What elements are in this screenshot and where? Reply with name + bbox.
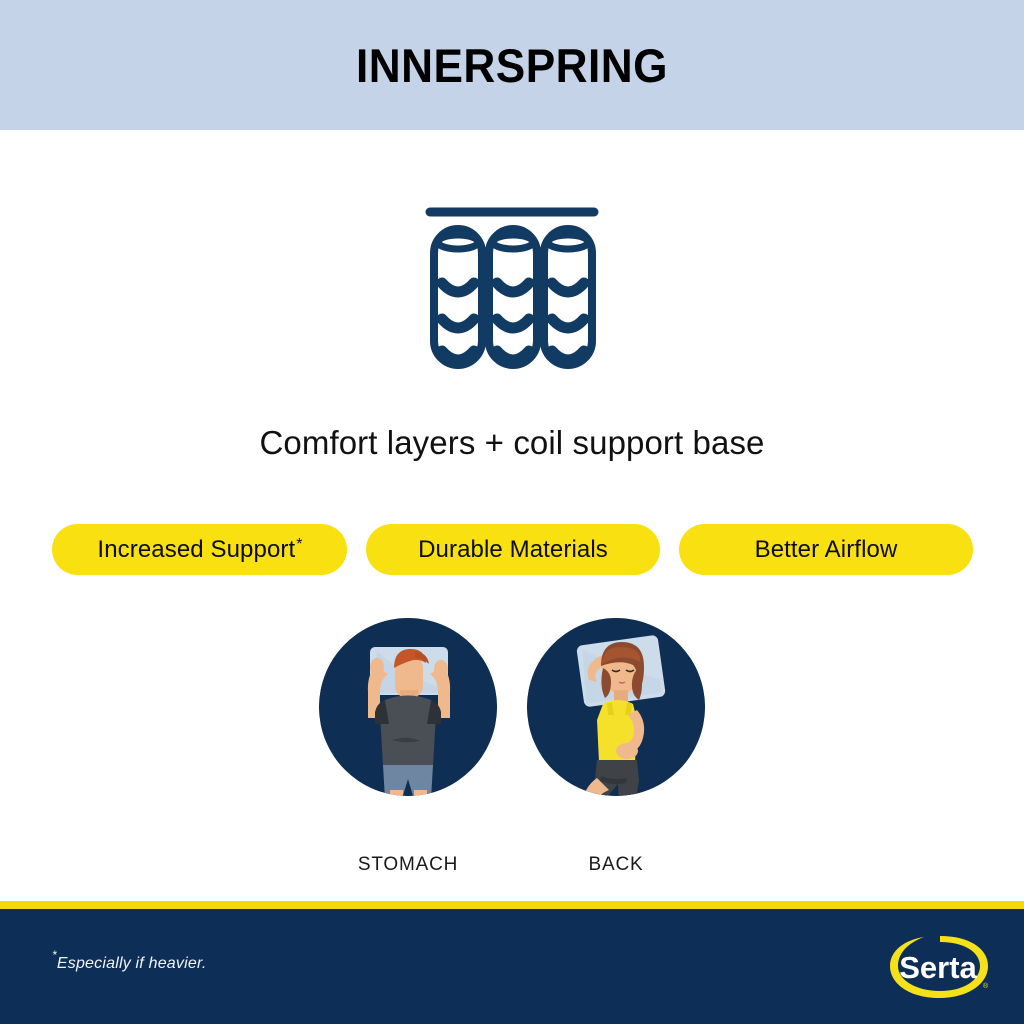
serta-wordmark: Serta <box>899 950 977 985</box>
stomach-sleeper-icon <box>319 618 497 796</box>
page-title: INNERSPRING <box>31 0 994 130</box>
sleep-position-label-back: BACK <box>527 854 705 876</box>
serta-logo[interactable]: Serta ® <box>884 928 996 1006</box>
sleep-position-row: STOMACH <box>297 618 727 878</box>
footnote-text: *Especially if heavier. <box>52 955 207 973</box>
footer-accent-stripe <box>0 901 1024 909</box>
benefit-pill-label: Increased Support <box>97 536 295 564</box>
benefit-pill-label: Durable Materials <box>418 536 608 564</box>
back-sleeper-icon <box>527 618 705 796</box>
asterisk-marker: * <box>52 948 57 962</box>
benefit-pill-row: Increased Support* Durable Materials Bet… <box>52 524 973 575</box>
infographic-page: INNERSPRING <box>0 0 1024 1024</box>
sleep-position-label-stomach: STOMACH <box>319 854 497 876</box>
benefit-pill-durable-materials[interactable]: Durable Materials <box>366 524 660 575</box>
innerspring-coil-icon <box>412 195 612 375</box>
benefit-pill-increased-support[interactable]: Increased Support* <box>52 524 347 575</box>
benefit-pill-better-airflow[interactable]: Better Airflow <box>679 524 973 575</box>
benefit-pill-label: Better Airflow <box>755 536 898 564</box>
footnote-label: Especially if heavier. <box>57 955 207 972</box>
subtitle-text: Comfort layers + coil support base <box>0 424 1024 462</box>
registered-trademark-icon: ® <box>983 982 989 990</box>
sleep-position-stomach: STOMACH <box>319 618 497 876</box>
sleep-position-back: BACK <box>527 618 705 876</box>
